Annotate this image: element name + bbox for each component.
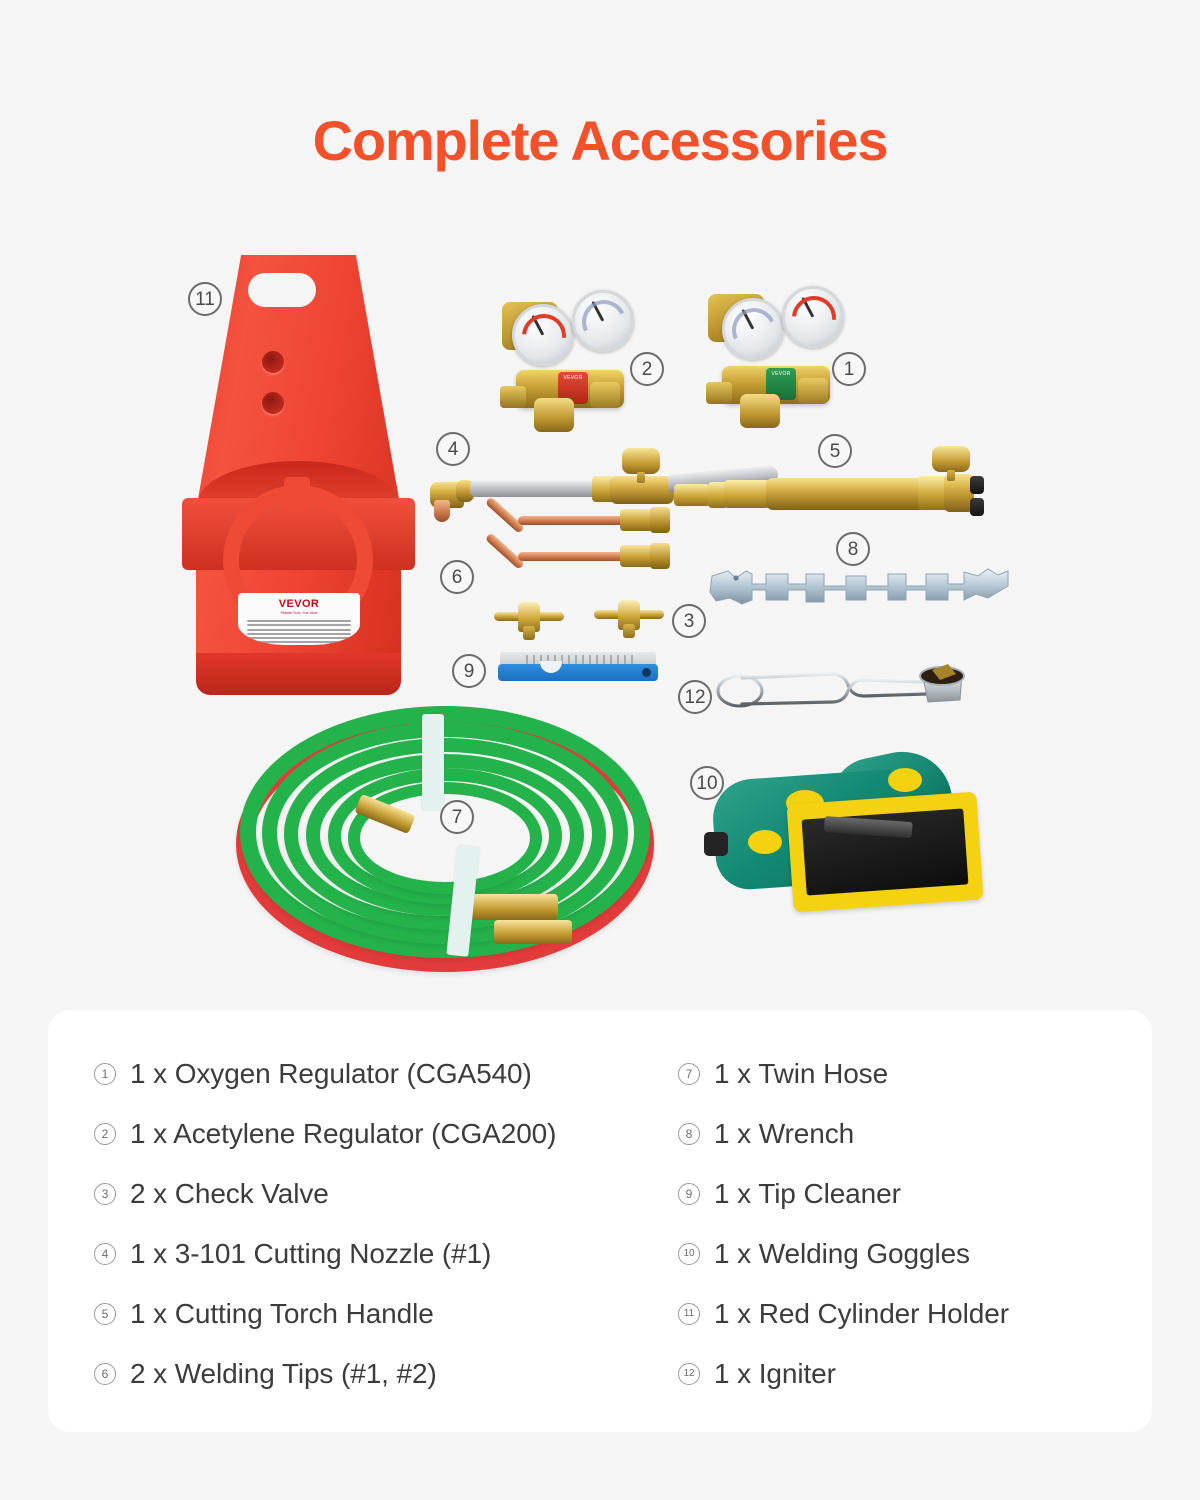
regulator-adjust-knob [740, 394, 780, 428]
handle-ferrule [724, 480, 770, 508]
list-item-number: 11 [678, 1303, 700, 1325]
list-item: 6 2 x Welding Tips (#1, #2) [48, 1344, 668, 1404]
marker-7: 7 [440, 800, 474, 834]
oxygen-regulator: VEVOR [700, 276, 850, 426]
list-item: 10 1 x Welding Goggles [668, 1224, 1152, 1284]
welding-goggles [706, 746, 976, 926]
marker-8: 8 [836, 532, 870, 566]
list-item: 7 1 x Twin Hose [668, 1044, 1152, 1104]
tip-cleaner [498, 652, 658, 682]
marker-9: 9 [452, 654, 486, 688]
regulator-outlet [798, 378, 828, 404]
marker-10: 10 [690, 766, 724, 800]
list-item: 5 1 x Cutting Torch Handle [48, 1284, 668, 1344]
goggle-vent-stud-3 [888, 768, 922, 792]
regulator-gauge-high [782, 286, 844, 348]
holder-product-label: VEVOR Reliable Tools, Your Value [238, 593, 360, 645]
acetylene-regulator: VEVOR [494, 282, 644, 432]
spark-lighter [716, 660, 986, 722]
goggle-vent-stud-2 [748, 830, 782, 854]
torch-oxygen-knob [622, 448, 660, 474]
product-photo-stage: VEVOR Reliable Tools, Your Value 11 VEVO… [0, 0, 1200, 1010]
accessories-list-card: 1 1 x Oxygen Regulator (CGA540) 2 1 x Ac… [48, 1010, 1152, 1432]
marker-1: 1 [832, 352, 866, 386]
nozzle-tube [470, 480, 600, 497]
list-item-label: 2 x Welding Tips (#1, #2) [130, 1358, 437, 1390]
marker-3: 3 [672, 604, 706, 638]
list-item-number: 10 [678, 1243, 700, 1265]
list-item-label: 1 x Igniter [714, 1358, 836, 1390]
list-item-label: 1 x Oxygen Regulator (CGA540) [130, 1058, 532, 1090]
regulator-inlet [706, 382, 732, 404]
regulator-gauge-high [572, 290, 634, 352]
gang-wrench [706, 560, 1014, 612]
holder-base [196, 653, 401, 695]
torch-joint [674, 484, 710, 506]
hose-connector-fuel [970, 498, 984, 516]
list-item: 1 1 x Oxygen Regulator (CGA540) [48, 1044, 668, 1104]
list-item-label: 1 x Welding Goggles [714, 1238, 970, 1270]
list-item: 8 1 x Wrench [668, 1104, 1152, 1164]
red-cylinder-holder: VEVOR Reliable Tools, Your Value [178, 255, 418, 695]
regulator-gauge-low [512, 304, 574, 366]
list-item-label: 1 x 3-101 Cutting Nozzle (#1) [130, 1238, 491, 1270]
list-item-number: 1 [94, 1063, 116, 1085]
check-valve-2 [594, 598, 664, 632]
hose-strap-top [422, 714, 444, 810]
list-item-number: 8 [678, 1123, 700, 1145]
list-item-number: 2 [94, 1123, 116, 1145]
holder-handle-slot [248, 273, 316, 307]
list-item-number: 5 [94, 1303, 116, 1325]
tip-cleaner-case [498, 664, 658, 681]
torch-handle-barrel [766, 478, 926, 510]
accessories-column-right: 7 1 x Twin Hose 8 1 x Wrench 9 1 x Tip C… [668, 1044, 1152, 1432]
goggle-lens [802, 808, 969, 895]
goggle-flip-frame [786, 792, 983, 913]
cutting-nozzle-tip [434, 500, 450, 522]
vevor-logo: VEVOR [279, 598, 320, 610]
list-item: 4 1 x 3-101 Cutting Nozzle (#1) [48, 1224, 668, 1284]
list-item: 9 1 x Tip Cleaner [668, 1164, 1152, 1224]
list-item-label: 1 x Tip Cleaner [714, 1178, 901, 1210]
list-item-number: 9 [678, 1183, 700, 1205]
goggle-strap-clip [704, 832, 728, 856]
marker-12: 12 [678, 680, 712, 714]
list-item-label: 1 x Wrench [714, 1118, 854, 1150]
twin-hose-coil [236, 706, 656, 976]
list-item: 2 1 x Acetylene Regulator (CGA200) [48, 1104, 668, 1164]
label-spec-lines [247, 618, 352, 645]
accessories-column-left: 1 1 x Oxygen Regulator (CGA540) 2 1 x Ac… [48, 1044, 668, 1432]
marker-4: 4 [436, 432, 470, 466]
list-item-label: 1 x Twin Hose [714, 1058, 888, 1090]
hose-fitting-outer-a [472, 894, 558, 920]
holder-hole-upper [262, 351, 284, 373]
marker-5: 5 [818, 434, 852, 468]
hose-fitting-outer-b [494, 920, 572, 944]
regulator-inlet [500, 386, 526, 408]
list-item: 12 1 x Igniter [668, 1344, 1152, 1404]
list-item: 3 2 x Check Valve [48, 1164, 668, 1224]
list-item-number: 7 [678, 1063, 700, 1085]
list-item-label: 2 x Check Valve [130, 1178, 329, 1210]
list-item: 11 1 x Red Cylinder Holder [668, 1284, 1152, 1344]
vevor-tagline: Reliable Tools, Your Value [281, 611, 318, 615]
marker-11: 11 [188, 282, 222, 316]
check-valve-1 [494, 600, 564, 634]
accessories-list: 1 1 x Oxygen Regulator (CGA540) 2 1 x Ac… [48, 1010, 1152, 1432]
hose-connector-oxygen [970, 476, 984, 494]
regulator-gauge-low [722, 298, 784, 360]
regulator-outlet [590, 382, 620, 408]
list-item-number: 3 [94, 1183, 116, 1205]
handle-fuel-knob [932, 446, 970, 472]
marker-2: 2 [630, 352, 664, 386]
welding-tip-2 [478, 546, 678, 586]
marker-6: 6 [440, 560, 474, 594]
list-item-number: 4 [94, 1243, 116, 1265]
list-item-number: 6 [94, 1363, 116, 1385]
list-item-label: 1 x Red Cylinder Holder [714, 1298, 1009, 1330]
list-item-label: 1 x Acetylene Regulator (CGA200) [130, 1118, 556, 1150]
regulator-adjust-knob [534, 398, 574, 432]
list-item-number: 12 [678, 1363, 700, 1385]
list-item-label: 1 x Cutting Torch Handle [130, 1298, 434, 1330]
holder-hole-lower [262, 392, 284, 414]
accessories-infographic-page: Complete Accessories VEVOR Reliable Tool… [0, 0, 1200, 1500]
